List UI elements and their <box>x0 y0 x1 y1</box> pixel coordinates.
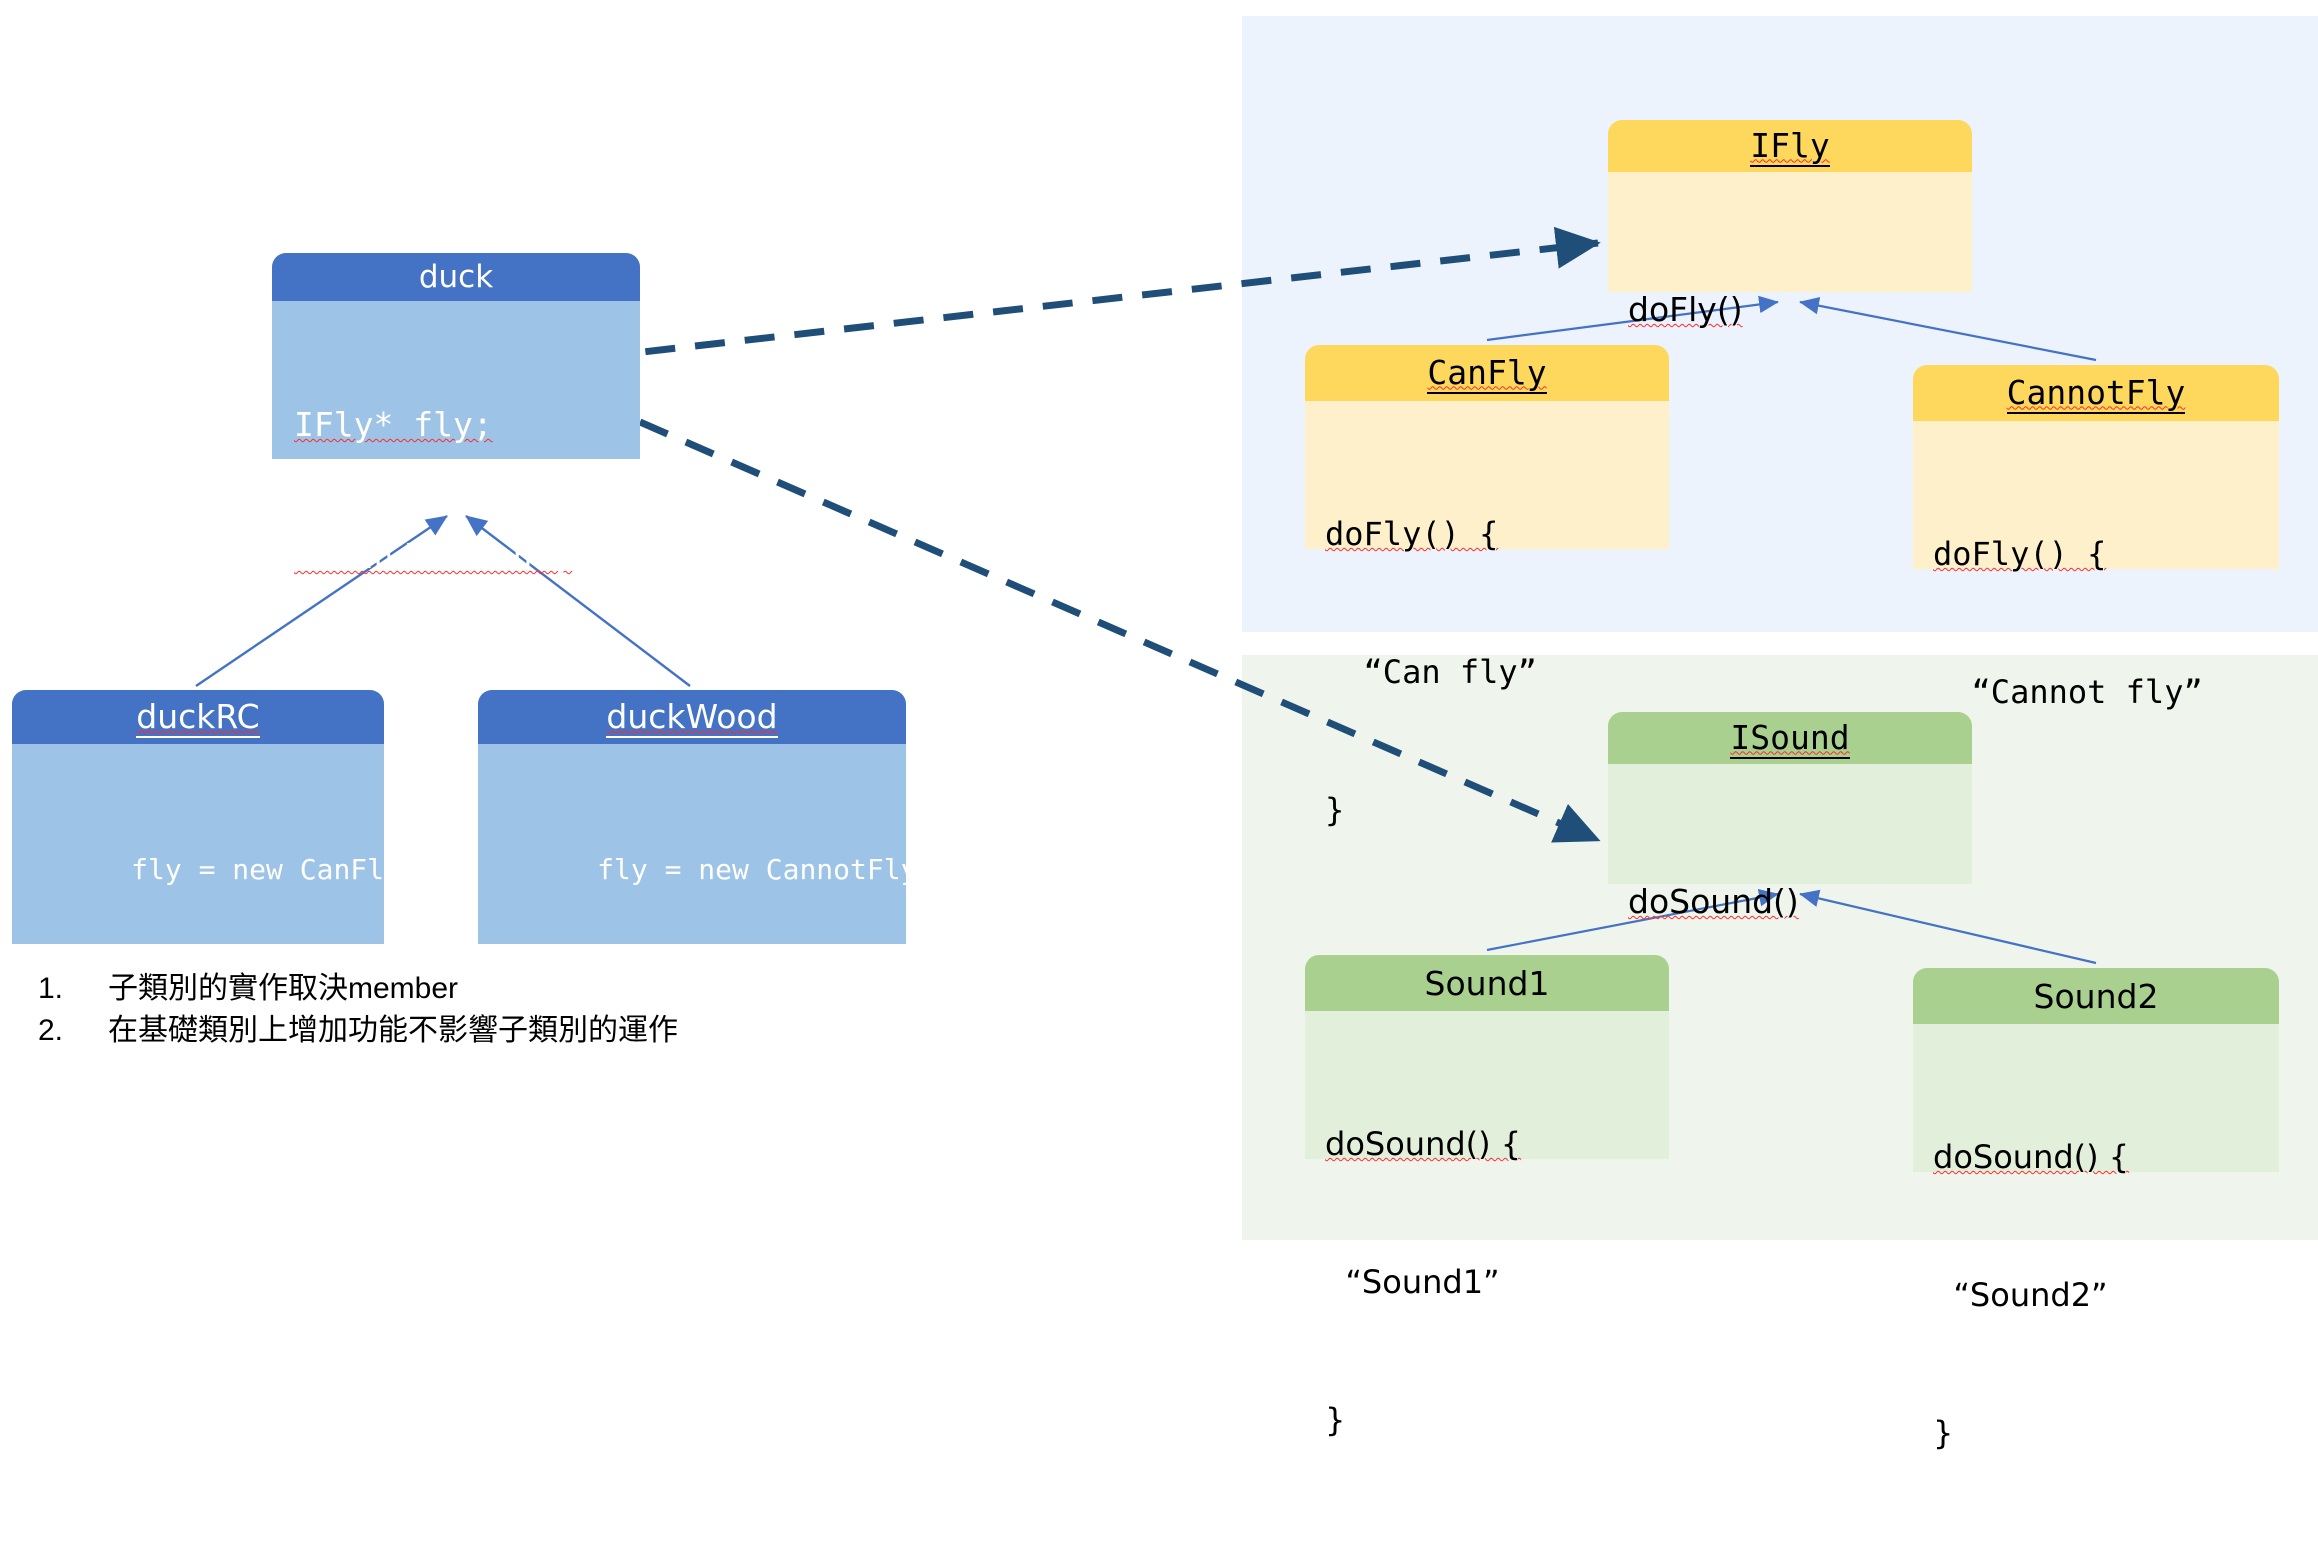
class-box-duck[interactable]: duck IFly* fly; Isound* sound; … <box>272 253 640 343</box>
note-text: 子類別的實作取決member <box>108 968 458 1010</box>
cannotfly-method-literal: “Cannot fly” <box>1933 669 2259 715</box>
list-item: 2. 在基礎類別上增加功能不影響子類別的運作 <box>38 1010 938 1052</box>
class-title-cannotfly: CannotFly <box>1913 365 2279 421</box>
class-body-duck: IFly* fly; Isound* sound; … <box>272 301 640 459</box>
class-body-cannotfly: doFly() { “Cannot fly” } <box>1913 421 2279 569</box>
class-body-isound: doSound() … <box>1608 764 1972 884</box>
sound2-method-open: doSound() { <box>1933 1138 2129 1176</box>
sound1-method-literal: “Sound1” <box>1325 1259 1649 1305</box>
class-body-duckrc: fly = new CanFly() <box>12 744 384 944</box>
canfly-method-close: } <box>1325 787 1649 833</box>
class-body-sound1: doSound() { “Sound1” } <box>1305 1011 1669 1159</box>
sound1-method-close: } <box>1325 1397 1649 1443</box>
class-body-canfly: doFly() { “Can fly” } <box>1305 401 1669 549</box>
duckwood-assignment: fly = new CannotFly() <box>597 853 951 886</box>
class-title-isound: ISound <box>1608 712 1972 764</box>
class-title-ifly: IFly <box>1608 120 1972 172</box>
ifly-method-dofly: doFly() <box>1628 290 1743 329</box>
class-body-ifly: doFly() … <box>1608 172 1972 292</box>
note-text: 在基礎類別上增加功能不影響子類別的運作 <box>108 1010 678 1052</box>
duck-member-fly: IFly* fly; <box>294 405 493 444</box>
cannotfly-method-close: } <box>1933 807 2259 853</box>
class-body-sound2: doSound() { “Sound2” } <box>1913 1024 2279 1172</box>
note-number: 1. <box>38 968 108 1010</box>
class-title-sound2: Sound2 <box>1913 968 2279 1024</box>
list-item: 1. 子類別的實作取決member <box>38 968 938 1010</box>
note-number: 2. <box>38 1010 108 1052</box>
class-box-isound[interactable]: ISound doSound() … <box>1608 712 1972 766</box>
canfly-method-open: doFly() { <box>1325 515 1498 553</box>
class-box-ifly[interactable]: IFly doFly() … <box>1608 120 1972 174</box>
class-title-duckwood: duckWood <box>478 690 906 744</box>
class-box-cannotfly[interactable]: CannotFly doFly() { “Cannot fly” } <box>1913 365 2279 421</box>
sound2-method-literal: “Sound2” <box>1933 1272 2259 1318</box>
class-box-duckwood[interactable]: duckWood fly = new CannotFly() <box>478 690 906 780</box>
canfly-method-literal: “Can fly” <box>1325 649 1649 695</box>
isound-ellipsis: … <box>1628 1032 1952 1078</box>
ifly-ellipsis: … <box>1628 440 1952 486</box>
class-title-sound1: Sound1 <box>1305 955 1669 1011</box>
notes-list: 1. 子類別的實作取決member 2. 在基礎類別上增加功能不影響子類別的運作 <box>38 968 938 1052</box>
class-box-sound1[interactable]: Sound1 doSound() { “Sound1” } <box>1305 955 1669 1011</box>
duckrc-assignment: fly = new CanFly() <box>131 853 434 886</box>
sound1-method-open: doSound() { <box>1325 1125 1521 1163</box>
diagram-canvas: duck IFly* fly; Isound* sound; … duckRC … <box>0 0 2318 1258</box>
class-title-canfly: CanFly <box>1305 345 1669 401</box>
class-box-duckrc[interactable]: duckRC fly = new CanFly() <box>12 690 384 780</box>
class-title-duck: duck <box>272 253 640 301</box>
class-title-duckrc: duckRC <box>12 690 384 744</box>
isound-method-dosound: doSound() <box>1628 882 1799 921</box>
cannotfly-method-open: doFly() { <box>1933 535 2106 573</box>
class-body-duckwood: fly = new CannotFly() <box>478 744 906 944</box>
class-box-sound2[interactable]: Sound2 doSound() { “Sound2” } <box>1913 968 2279 1024</box>
duck-member-sound: Isound* sound; <box>294 537 572 576</box>
sound2-method-close: } <box>1933 1410 2259 1456</box>
class-box-canfly[interactable]: CanFly doFly() { “Can fly” } <box>1305 345 1669 401</box>
